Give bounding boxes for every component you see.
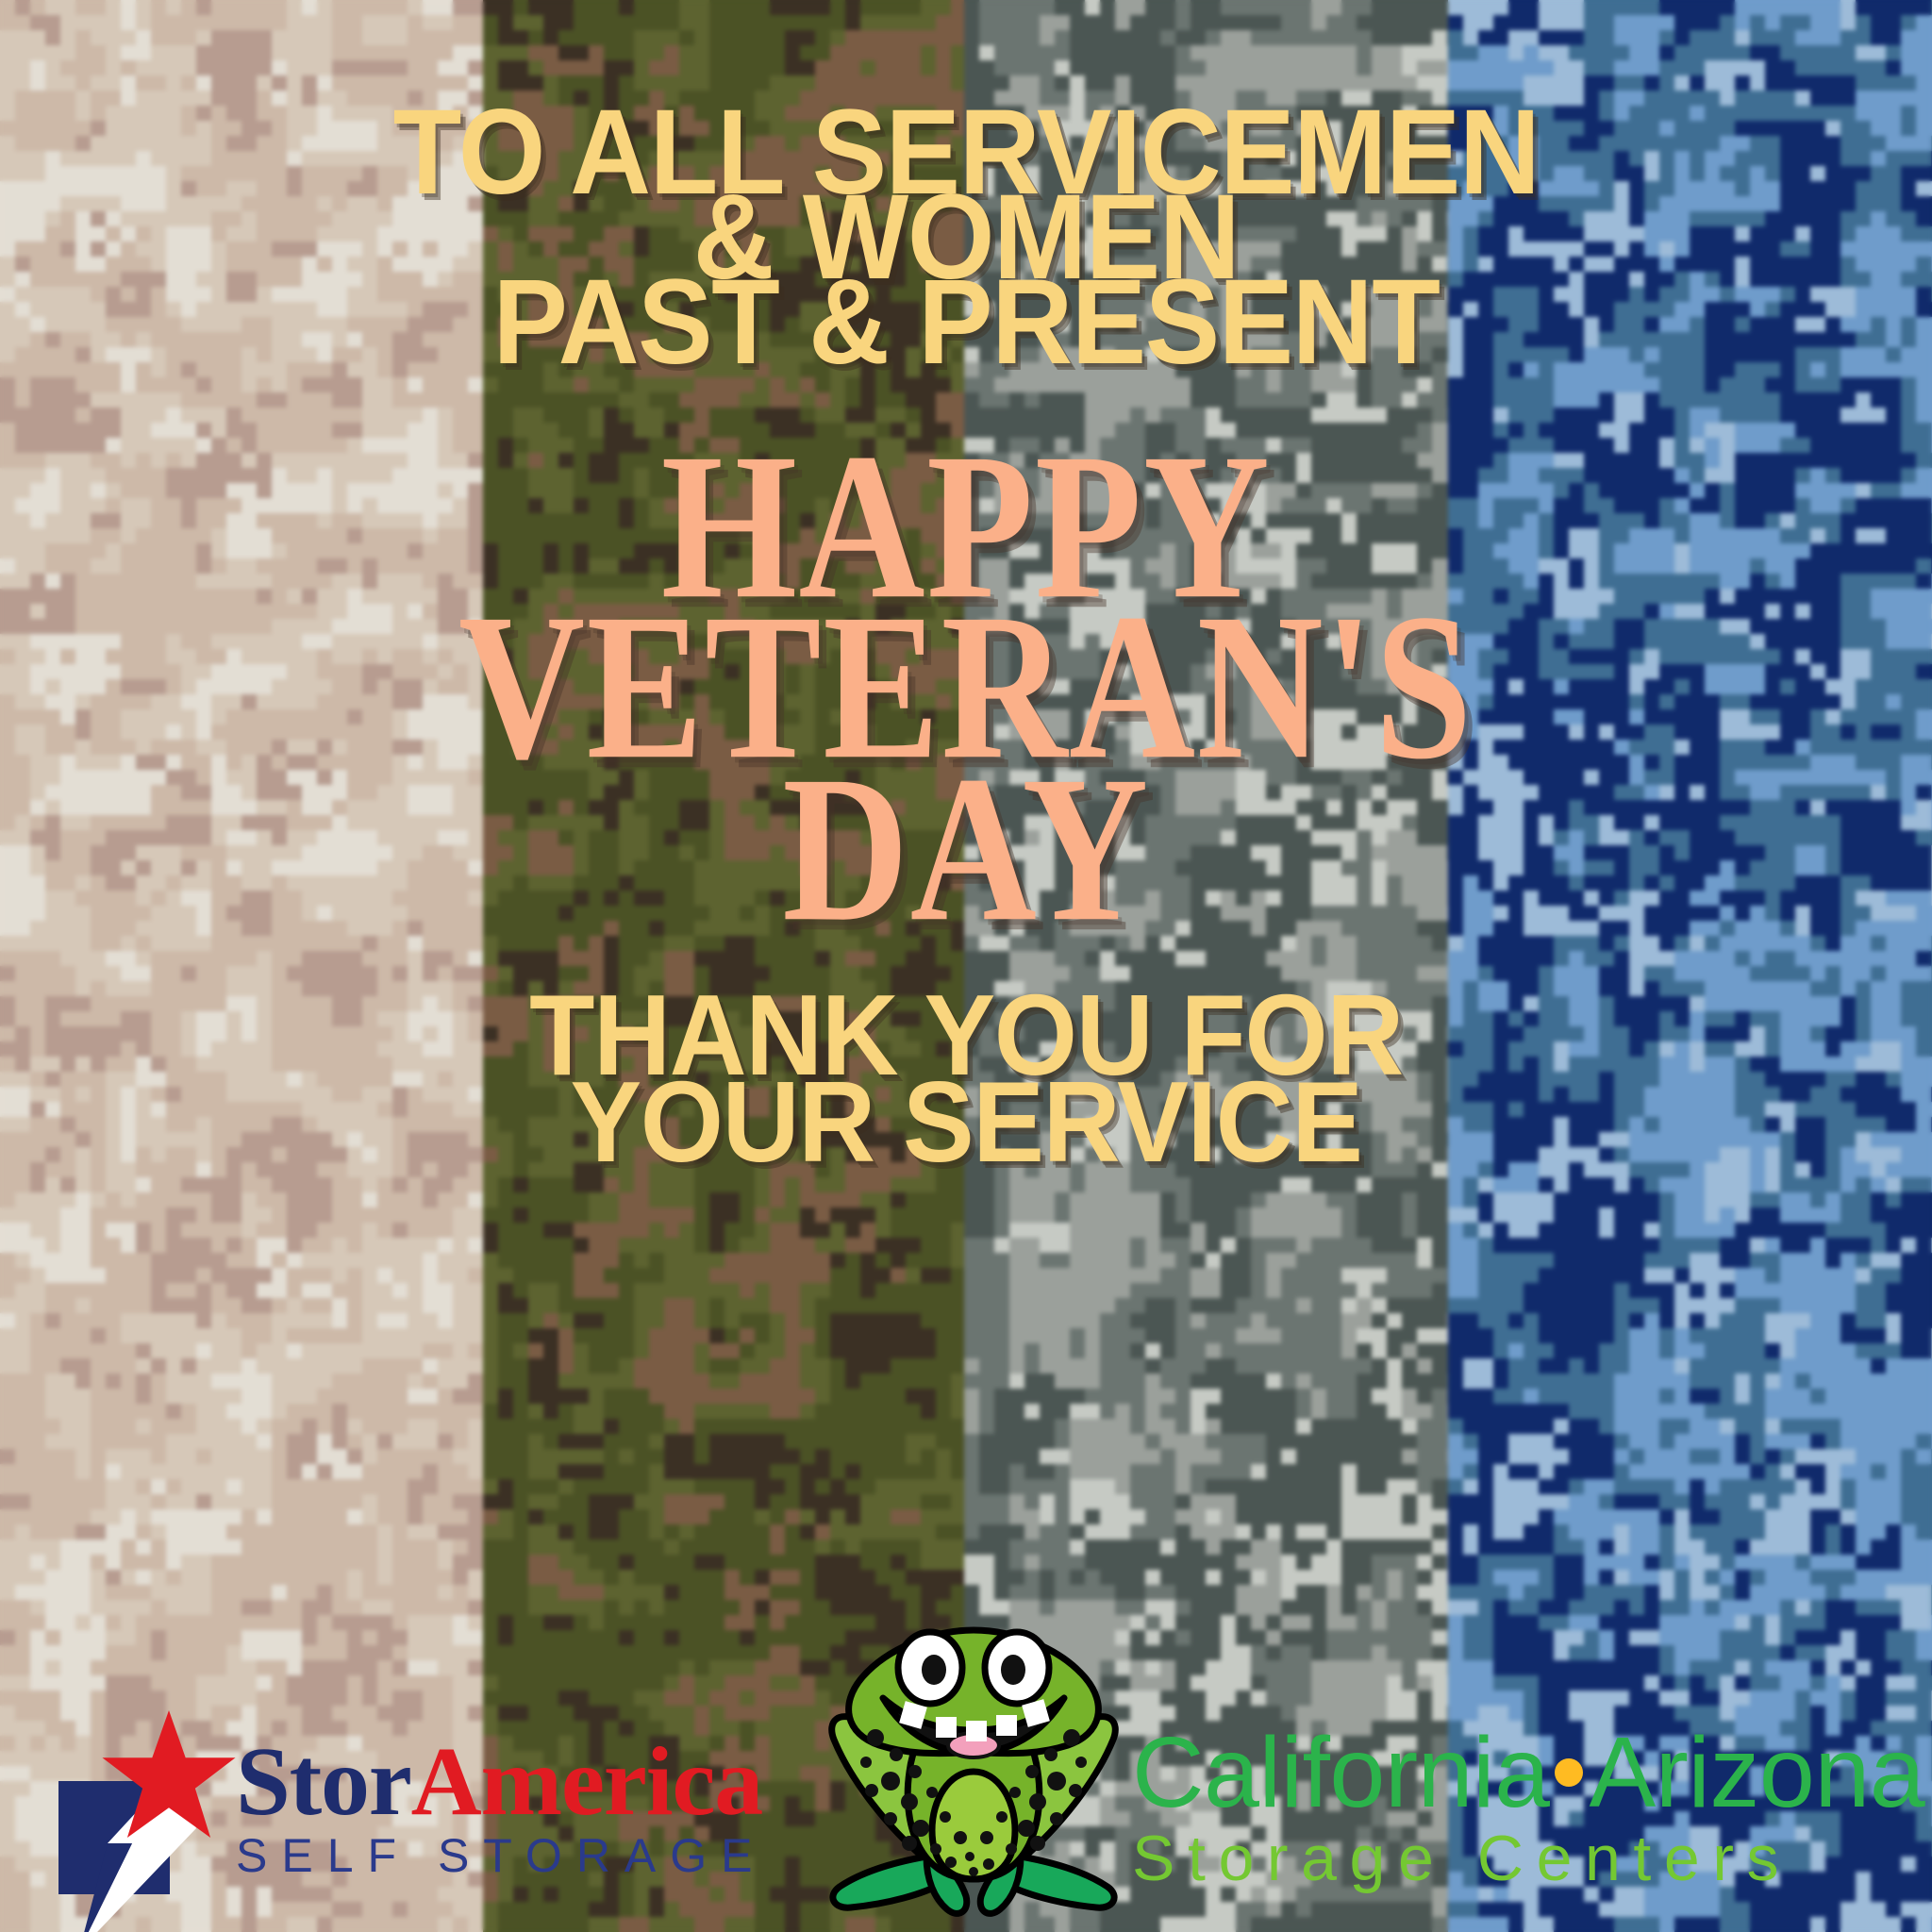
thanks-line-2: YOUR SERVICE	[68, 1074, 1865, 1170]
storamerica-name-stor: Stor	[236, 1727, 411, 1836]
storamerica-mark	[53, 1707, 241, 1896]
california-arizona-logo[interactable]: CaliforniaArizona Storage Centers	[1132, 1723, 1924, 1890]
california-arizona-line-1: CaliforniaArizona	[1132, 1723, 1924, 1823]
headline-line-3: PAST & PRESENT	[68, 272, 1865, 374]
storamerica-wordmark: StorAmerica SELF STORAGE	[236, 1738, 767, 1896]
veterans-day-poster: TO ALL SERVICEMEN & WOMEN PAST & PRESENT…	[0, 0, 1932, 1932]
arizona-label: Arizona	[1589, 1717, 1924, 1828]
red-star-icon	[98, 1707, 240, 1849]
smiling-frog-mascot-icon[interactable]	[785, 1596, 1162, 1926]
footer-logo-bar: StorAmerica SELF STORAGE	[0, 1630, 1932, 1932]
greeting-line-day: DAY	[0, 766, 1932, 934]
storamerica-tagline: SELF STORAGE	[236, 1828, 767, 1883]
separator-dot-icon	[1555, 1758, 1583, 1787]
storamerica-name-america: America	[411, 1727, 762, 1836]
storage-centers-label: Storage Centers	[1132, 1826, 1924, 1890]
frog-pupil-right	[1001, 1655, 1025, 1685]
storamerica-name: StorAmerica	[236, 1738, 767, 1826]
storamerica-logo[interactable]: StorAmerica SELF STORAGE	[53, 1707, 767, 1896]
california-label: California	[1132, 1717, 1549, 1828]
frog-pupil-left	[922, 1655, 946, 1685]
